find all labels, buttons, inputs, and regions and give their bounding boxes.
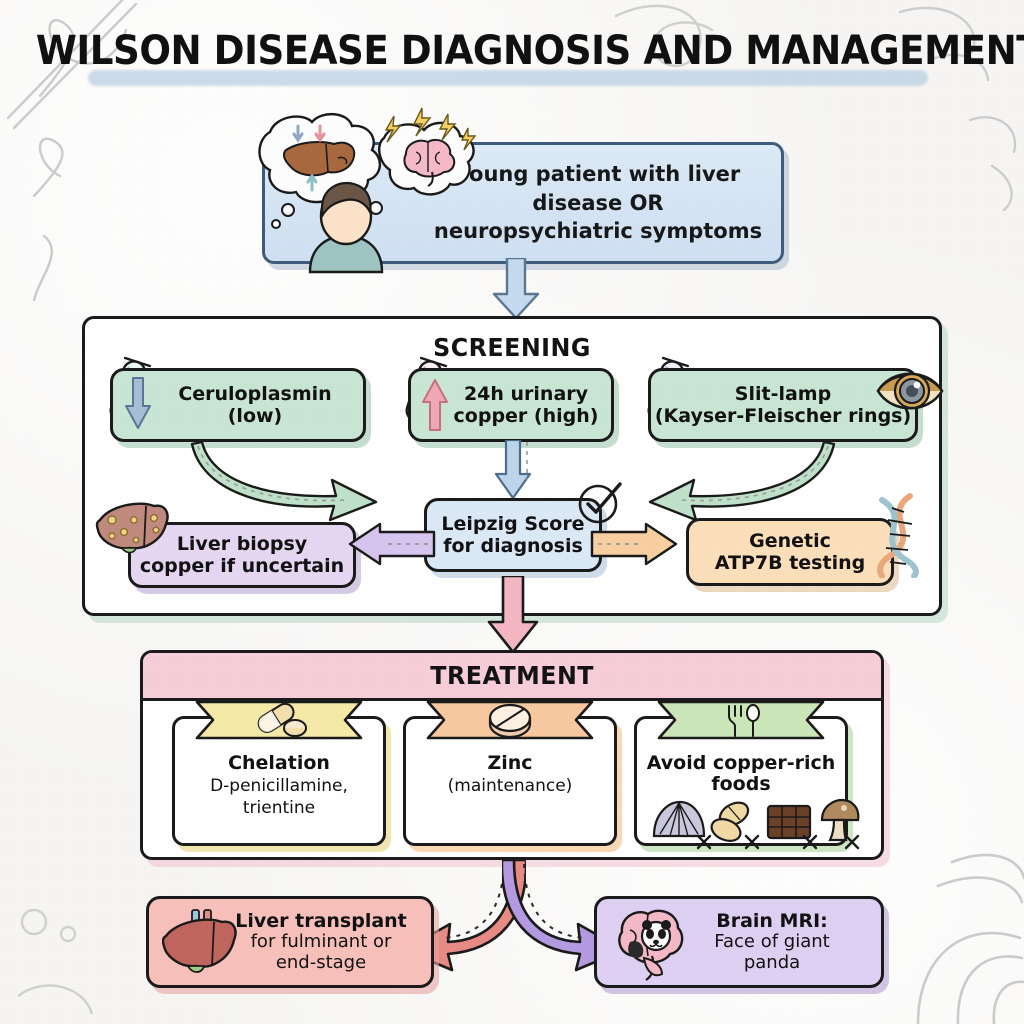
chelation-line-3: trientine [243, 798, 315, 818]
urinary-line-2: copper (high) [454, 405, 599, 427]
zinc-line-1: Zinc [487, 753, 532, 774]
brain-panda-icon [608, 906, 688, 982]
genetic-line-1: Genetic [715, 530, 865, 552]
arrow-slitlamp-to-leipzig [596, 438, 876, 528]
treatment-title-text: TREATMENT [430, 661, 594, 690]
patient-line-3: neuropsychiatric symptoms [434, 217, 762, 246]
chocolate-icon [768, 806, 810, 838]
check-circle-icon [576, 478, 624, 526]
avoid-line-1: Avoid copper-rich [647, 753, 836, 774]
brain-thought-bubble-icon [379, 108, 475, 194]
arrow-ceruloplasmin-to-leipzig [150, 438, 430, 528]
liver-transplant-icon [162, 908, 240, 980]
chelation-line-2: D-penicillamine, [210, 776, 348, 796]
leipzig-line-1: Leipzig Score [441, 513, 584, 535]
ceruloplasmin-line-2: (low) [178, 405, 331, 427]
ceruloplasmin-line-1: Ceruloplasmin [178, 383, 331, 405]
avoid-foods-banner [657, 700, 825, 740]
down-arrow-icon [124, 376, 152, 432]
patient-figure-icon [236, 104, 476, 274]
slitlamp-line-2: (Kayser-Fleischer rings) [655, 405, 911, 427]
mri-line-1: Brain MRI: [714, 910, 829, 932]
shellfish-icon [654, 802, 704, 836]
genetic-testing-card: Genetic ATP7B testing [686, 518, 894, 586]
genetic-line-2: ATP7B testing [715, 552, 865, 574]
up-arrow-icon [421, 376, 449, 432]
arrow-patient-to-screening [488, 258, 544, 322]
transplant-line-1: Liver transplant [235, 910, 407, 932]
tablet-icon [490, 705, 530, 737]
chelation-banner [195, 700, 363, 740]
arrow-urinary-to-leipzig [494, 440, 534, 502]
urinary-line-1: 24h urinary [454, 383, 599, 405]
mri-line-3: panda [714, 953, 829, 974]
zinc-banner [426, 700, 594, 740]
leipzig-line-2: for diagnosis [441, 535, 584, 557]
screening-section-title: SCREENING [106, 333, 917, 362]
infographic-canvas: WILSON DISEASE DIAGNOSIS AND MANAGEMENT … [0, 0, 1024, 1024]
arrow-leipzig-to-genetic [588, 522, 680, 566]
nuts-icon [708, 798, 752, 845]
chelation-line-1: Chelation [228, 753, 330, 774]
transplant-line-3: end-stage [235, 953, 407, 974]
avoid-food-icons [648, 796, 860, 850]
avoid-line-2: foods [711, 774, 770, 795]
page-title: WILSON DISEASE DIAGNOSIS AND MANAGEMENT [36, 28, 988, 74]
arrow-to-treatment [484, 576, 542, 656]
mri-line-2: Face of giant [714, 932, 829, 953]
page-title-wrap: WILSON DISEASE DIAGNOSIS AND MANAGEMENT [0, 28, 1024, 74]
arrow-leipzig-to-biopsy [346, 522, 438, 566]
patient-line-1: Young patient with liver [434, 160, 762, 189]
patient-text: Young patient with liver disease OR neur… [434, 160, 762, 247]
patient-line-2: disease OR [434, 189, 762, 218]
mushroom-icon [822, 800, 858, 840]
slitlamp-line-1: Slit-lamp [655, 383, 911, 405]
zinc-line-2: (maintenance) [448, 776, 573, 796]
treatment-section-title: TREATMENT [143, 653, 881, 701]
dna-helix-icon [864, 492, 930, 578]
eye-icon [874, 362, 946, 420]
transplant-line-2: for fulminant or [235, 932, 407, 953]
liver-spotted-icon [92, 498, 172, 564]
